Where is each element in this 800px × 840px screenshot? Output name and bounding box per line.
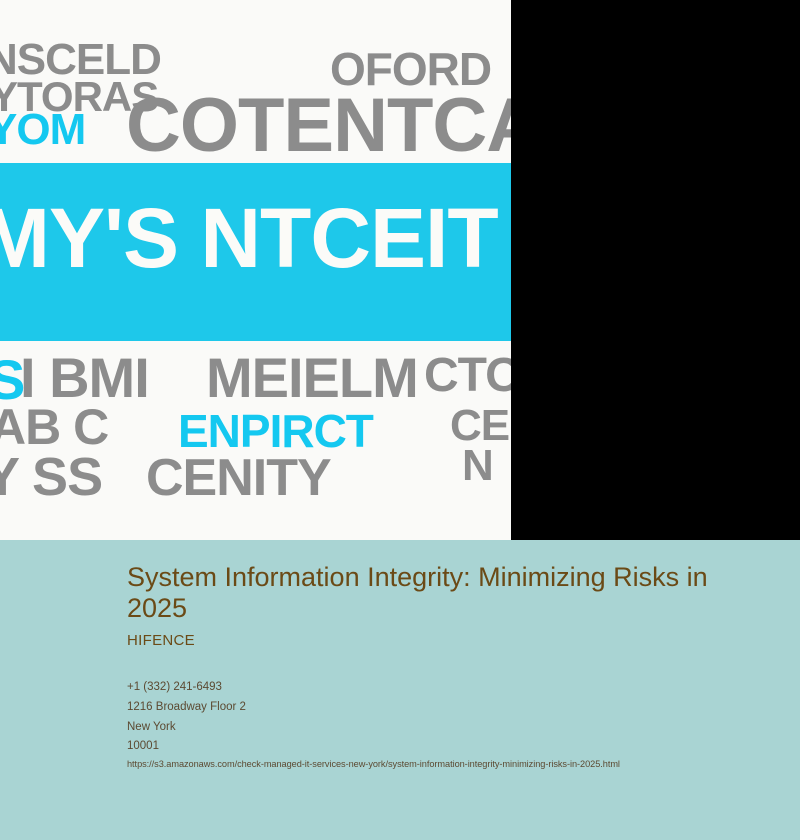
word-cloud-word: YOM bbox=[0, 108, 85, 152]
contact-street: 1216 Broadway Floor 2 bbox=[127, 698, 246, 718]
contact-phone: +1 (332) 241-6493 bbox=[127, 678, 246, 698]
media-area: NSCELDYTORASOFORDYOMCOTENTCAMY'S NTCEITS… bbox=[0, 0, 800, 540]
contact-postal-code: 10001 bbox=[127, 737, 246, 757]
word-cloud-word: CTO bbox=[424, 352, 511, 400]
word-cloud-word: CENITY bbox=[146, 452, 331, 504]
word-cloud-word: MY'S NTCEIT bbox=[0, 196, 498, 280]
word-cloud-word: AB C bbox=[0, 402, 108, 452]
brand-name: HIFENCE bbox=[127, 632, 195, 649]
word-cloud-word: ENPIRCT bbox=[178, 408, 373, 454]
contact-details: +1 (332) 241-6493 1216 Broadway Floor 2 … bbox=[127, 678, 246, 757]
word-cloud-image: NSCELDYTORASOFORDYOMCOTENTCAMY'S NTCEITS… bbox=[0, 0, 511, 540]
info-panel: System Information Integrity: Minimizing… bbox=[0, 540, 800, 840]
word-cloud-word: Y SS bbox=[0, 450, 102, 504]
word-cloud-word: COTENTCA bbox=[126, 88, 511, 164]
word-cloud-word: I BMI bbox=[20, 350, 149, 406]
contact-city: New York bbox=[127, 718, 246, 738]
source-url-link[interactable]: https://s3.amazonaws.com/check-managed-i… bbox=[127, 759, 620, 769]
word-cloud-word: N bbox=[462, 444, 493, 488]
page-title: System Information Integrity: Minimizing… bbox=[127, 562, 727, 625]
word-cloud-word: MEIELM bbox=[206, 350, 418, 406]
